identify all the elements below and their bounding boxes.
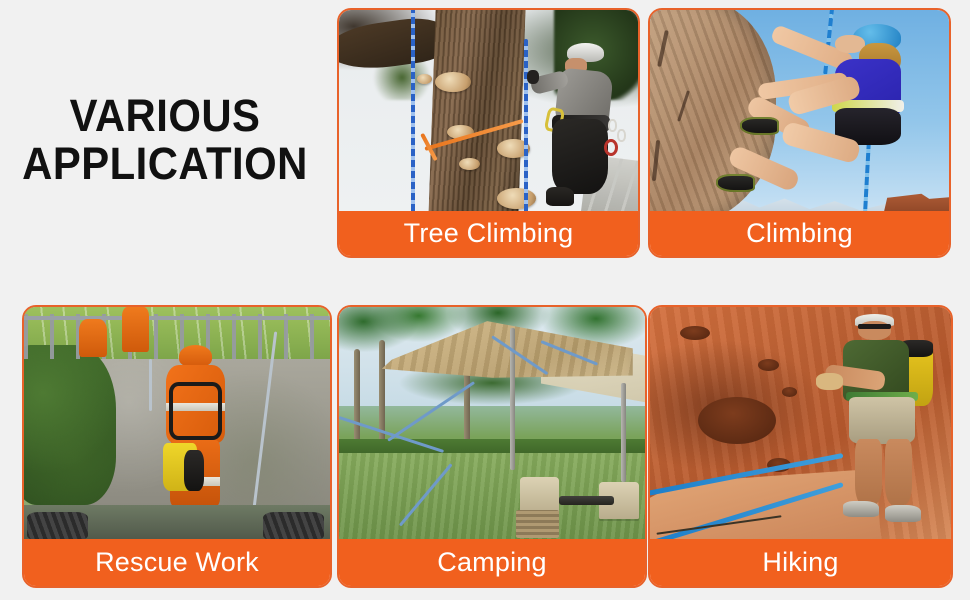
- rock-crack: [677, 90, 690, 121]
- ivy-bush: [24, 345, 116, 505]
- tree-trunk: [428, 10, 525, 215]
- carabiner: [608, 119, 617, 132]
- leg: [855, 439, 882, 505]
- page-title-line-1: VARIOUS: [12, 92, 319, 140]
- rock-hollow: [698, 397, 776, 444]
- caption-tree-climbing: Tree Climbing: [339, 211, 638, 256]
- tire: [27, 512, 88, 540]
- trunk-cut-mark: [435, 72, 471, 93]
- camp-table: [559, 496, 614, 505]
- sunglasses: [858, 324, 891, 330]
- image-rescue-work: [24, 307, 330, 543]
- legs: [552, 119, 608, 195]
- trunk-cut-mark: [417, 74, 432, 84]
- rock-crack: [652, 140, 660, 182]
- rock-pocket: [680, 326, 710, 340]
- card-rescue-work[interactable]: Rescue Work: [22, 305, 332, 588]
- rescue-rope: [149, 359, 152, 411]
- red-tool: [604, 139, 618, 156]
- tree-climber: [524, 43, 632, 215]
- rock-pocket: [782, 387, 797, 396]
- glove: [527, 70, 540, 84]
- shorts: [849, 397, 915, 444]
- glove: [816, 373, 843, 390]
- climbing-shoe: [716, 174, 755, 192]
- carabiner: [617, 129, 626, 142]
- hiking-boot: [885, 505, 921, 522]
- safety-harness: [169, 382, 222, 440]
- tarp-pole: [621, 383, 626, 482]
- trunk-cut-mark: [459, 158, 480, 170]
- boot: [546, 187, 574, 206]
- tire: [263, 512, 324, 540]
- rock-pocket: [758, 359, 779, 371]
- page-title-line-2: APPLICATION: [12, 140, 319, 188]
- background-worker: [122, 307, 150, 352]
- image-climbing: [650, 10, 949, 215]
- palm-trunk: [354, 349, 360, 448]
- climbing-shoe: [740, 117, 779, 135]
- leg: [885, 439, 912, 505]
- camp-chair: [520, 477, 560, 515]
- image-camping: [339, 307, 645, 543]
- hiking-boot: [843, 501, 879, 518]
- page-title: VARIOUS APPLICATION: [12, 92, 319, 188]
- card-hiking[interactable]: Hiking: [648, 305, 953, 588]
- caption-climbing: Climbing: [650, 211, 949, 256]
- image-tree-climbing: [339, 10, 638, 215]
- wicker-basket: [516, 510, 559, 538]
- caption-rescue-work: Rescue Work: [24, 539, 330, 586]
- card-tree-climbing[interactable]: Tree Climbing: [337, 8, 640, 258]
- card-camping[interactable]: Camping: [337, 305, 647, 588]
- railing-top-bar: [24, 316, 330, 320]
- rock-crack: [657, 30, 669, 67]
- black-equipment-bag: [184, 450, 205, 491]
- card-climbing[interactable]: Climbing: [648, 8, 951, 258]
- caption-camping: Camping: [339, 539, 645, 586]
- caption-hiking: Hiking: [650, 539, 951, 586]
- rescue-worker: [159, 345, 232, 515]
- helmet: [179, 345, 211, 367]
- background-worker: [79, 319, 107, 357]
- climbing-rope-blue: [411, 10, 415, 215]
- image-hiking: [650, 307, 951, 543]
